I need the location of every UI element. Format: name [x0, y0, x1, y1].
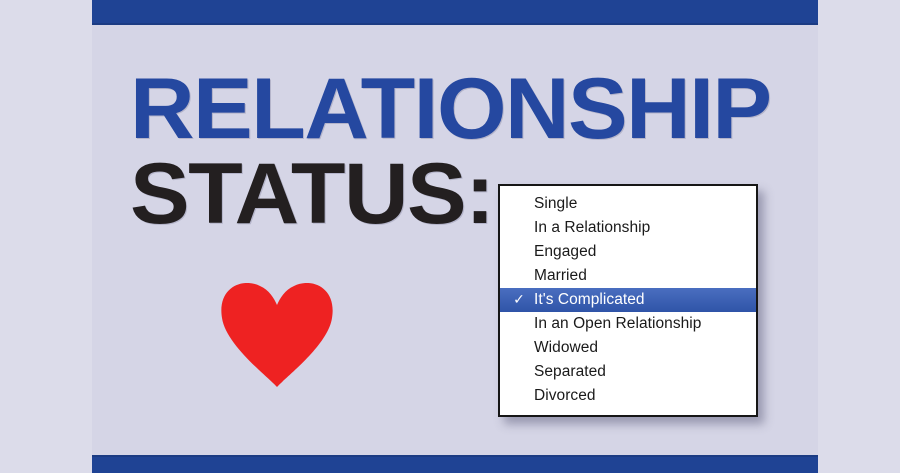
- menu-item[interactable]: ✓In an Open Relationship: [500, 312, 756, 336]
- menu-item-label: In a Relationship: [534, 219, 650, 236]
- menu-item-label: Separated: [534, 363, 606, 380]
- poster-canvas: RELATIONSHIP STATUS: ✓Single✓In a Relati…: [0, 0, 900, 473]
- menu-item[interactable]: ✓Widowed: [500, 336, 756, 360]
- heart-icon: [220, 283, 334, 387]
- menu-item[interactable]: ✓Separated: [500, 360, 756, 384]
- menu-item[interactable]: ✓Divorced: [500, 384, 756, 408]
- menu-item-label: Widowed: [534, 339, 598, 356]
- menu-item-label: It's Complicated: [534, 291, 645, 308]
- menu-item[interactable]: ✓Married: [500, 264, 756, 288]
- checkmark-icon: ✓: [512, 288, 526, 312]
- relationship-status-dropdown[interactable]: ✓Single✓In a Relationship✓Engaged✓Marrie…: [498, 184, 758, 417]
- top-blue-bar: [92, 0, 818, 25]
- bottom-blue-bar: [92, 455, 818, 473]
- menu-item-label: Divorced: [534, 387, 596, 404]
- menu-item-label: Married: [534, 267, 587, 284]
- menu-item-label: In an Open Relationship: [534, 315, 701, 332]
- menu-item-label: Single: [534, 195, 577, 212]
- headline-line-relationship: RELATIONSHIP: [130, 74, 771, 145]
- menu-item[interactable]: ✓Engaged: [500, 240, 756, 264]
- menu-item-label: Engaged: [534, 243, 596, 260]
- menu-item-selected[interactable]: ✓It's Complicated: [500, 288, 756, 312]
- menu-item[interactable]: ✓Single: [500, 192, 756, 216]
- menu-item[interactable]: ✓In a Relationship: [500, 216, 756, 240]
